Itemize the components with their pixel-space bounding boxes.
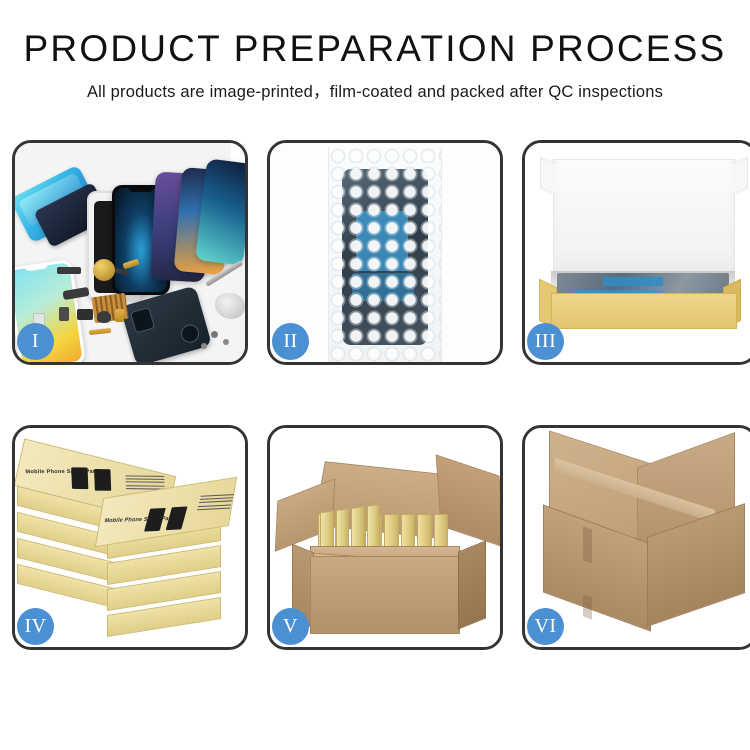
screw-part-b bbox=[223, 339, 229, 345]
kraft-box-front bbox=[551, 293, 737, 329]
box-phone-thumb-b1 bbox=[144, 508, 166, 532]
page-title: PRODUCT PREPARATION PROCESS bbox=[0, 30, 750, 69]
camera-lens-part bbox=[97, 311, 111, 323]
bubble-wrap-package bbox=[328, 147, 442, 362]
box-phone-thumb-a2 bbox=[94, 469, 111, 491]
page-subtitle: All products are image-printed，film-coat… bbox=[0, 78, 750, 102]
screw-part-a bbox=[211, 331, 218, 338]
process-step-panel-2[interactable]: II bbox=[267, 140, 503, 365]
box-label-title-a: Mobile Phone Spare Parts bbox=[25, 469, 101, 475]
carton-right-side bbox=[458, 540, 486, 629]
process-step-grid: I II III bbox=[12, 140, 738, 675]
process-step-panel-3[interactable]: III bbox=[522, 140, 750, 365]
page-header: PRODUCT PREPARATION PROCESS All products… bbox=[0, 0, 750, 102]
vibrator-part bbox=[59, 307, 69, 321]
box-spec-lines-b bbox=[196, 494, 234, 512]
carton-seam-lower bbox=[583, 594, 592, 619]
step-badge-4: IV bbox=[17, 608, 54, 645]
carton-seam-upper bbox=[583, 526, 592, 563]
step-badge-6: VI bbox=[527, 608, 564, 645]
process-step-panel-4[interactable]: Mobile Phone Spare Parts Mobile Phone Sp… bbox=[12, 425, 248, 650]
ic-chip-part bbox=[77, 309, 93, 320]
battery-connector-part bbox=[115, 309, 124, 322]
process-step-panel-1[interactable]: I bbox=[12, 140, 248, 365]
box-phone-thumb-b2 bbox=[166, 506, 188, 530]
screwdriver-handle bbox=[215, 293, 245, 319]
box-label-title-b: Mobile Phone Spare Parts bbox=[103, 516, 176, 525]
flex-cable-part bbox=[57, 267, 81, 274]
process-step-panel-5[interactable]: V bbox=[267, 425, 503, 650]
step-badge-2: II bbox=[272, 323, 309, 360]
speaker-part bbox=[93, 259, 115, 281]
step-badge-1: I bbox=[17, 323, 54, 360]
process-step-panel-6[interactable]: VI bbox=[522, 425, 750, 650]
box-phone-thumb-a1 bbox=[71, 467, 88, 489]
step-badge-5: V bbox=[272, 608, 309, 645]
screw-part-c bbox=[201, 343, 207, 349]
carton-front-face bbox=[310, 556, 460, 634]
bubble-highlight-layer bbox=[329, 147, 441, 362]
step-badge-3: III bbox=[527, 323, 564, 360]
